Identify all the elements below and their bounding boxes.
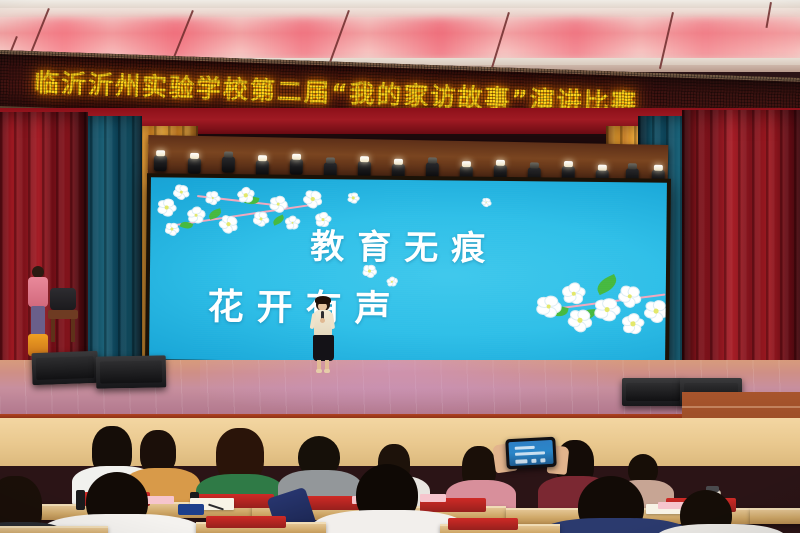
chair-leg bbox=[71, 319, 75, 342]
phone-ui-element bbox=[515, 459, 527, 464]
chair-back bbox=[50, 288, 76, 310]
led-screen: 教育无痕 花开有声 bbox=[145, 173, 671, 368]
auditorium-photo: 临沂沂州实验学校第二届“我的家访故事”演讲比赛 bbox=[0, 0, 800, 533]
presenter bbox=[307, 297, 339, 375]
blossom-center bbox=[368, 270, 371, 273]
stage-monitor-speaker bbox=[31, 351, 98, 385]
phone-camera-preview bbox=[508, 440, 553, 466]
led-screen-surface: 教育无痕 花开有声 bbox=[149, 177, 667, 364]
phone-ui-element bbox=[531, 459, 536, 463]
backstage-chair bbox=[48, 288, 78, 342]
chair-leg bbox=[51, 319, 55, 342]
floor-light-wash bbox=[200, 360, 680, 418]
stage-light-icon bbox=[222, 156, 235, 172]
audience-seat-front bbox=[448, 518, 518, 530]
stage-light-icon bbox=[290, 159, 303, 175]
stage-light-icon bbox=[154, 155, 167, 171]
chair-seat bbox=[48, 310, 78, 319]
stage-monitor-speaker bbox=[622, 378, 684, 406]
staff-shirt bbox=[28, 277, 48, 307]
audience-seat-front bbox=[206, 516, 286, 528]
presenter-shoe bbox=[316, 369, 322, 373]
ceiling-band-top bbox=[0, 0, 800, 8]
phone-ui-element bbox=[515, 446, 535, 450]
phone-ui-element bbox=[515, 451, 545, 456]
staff-member-backstage bbox=[26, 266, 50, 340]
audience-recording-phone bbox=[505, 437, 557, 470]
presenter-hand bbox=[320, 318, 325, 323]
audience-area bbox=[0, 418, 800, 533]
stage-monitor-speaker bbox=[96, 355, 167, 388]
presenter-hair bbox=[315, 296, 331, 304]
presenter-arm-right bbox=[329, 313, 335, 329]
ceiling-band-upper bbox=[0, 8, 800, 17]
blossom-center bbox=[352, 197, 355, 200]
presenter-skirt bbox=[313, 335, 334, 361]
phone-ui-element bbox=[540, 458, 545, 462]
blossom-flower bbox=[361, 262, 379, 280]
handout-paper bbox=[420, 494, 446, 502]
presenter-shoe bbox=[324, 369, 330, 373]
audience-desk-front bbox=[0, 526, 108, 533]
seat-bracket bbox=[76, 490, 85, 510]
smartphone-on-desk bbox=[178, 504, 204, 515]
blossom-flower bbox=[346, 191, 360, 205]
staff-legs bbox=[31, 306, 45, 336]
stage-light-icon bbox=[188, 158, 201, 174]
led-scanlines bbox=[149, 177, 667, 364]
audience-desk bbox=[750, 508, 800, 524]
